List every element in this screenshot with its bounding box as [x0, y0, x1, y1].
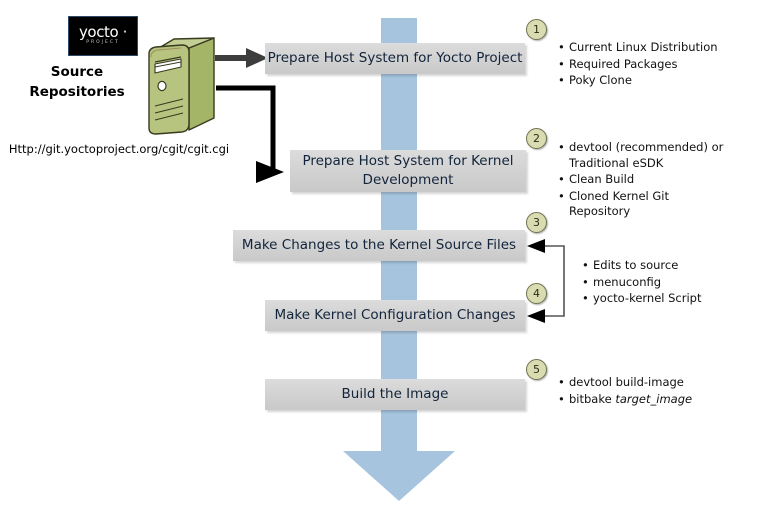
process-box-step-5[interactable]: Build the Image [265, 379, 525, 410]
list-item: Edits to source [593, 258, 760, 274]
list-item: Cloned Kernel Git Repository [569, 189, 724, 220]
list-item: devtool build-image [569, 375, 756, 391]
bullet-list-step-2: devtool (recommended) or Traditional eSD… [556, 140, 724, 221]
bullet-list-steps-3-4: Edits to source menuconfig yocto-kernel … [580, 258, 760, 308]
server-tower-icon [136, 34, 218, 144]
step-circle-4-number: 4 [533, 287, 540, 300]
diagram-canvas: yocto · PROJECT Source Repositories Http… [0, 0, 769, 517]
bullet-text-italic: target_image [615, 392, 692, 406]
process-box-step-3[interactable]: Make Changes to the Kernel Source Files [233, 230, 525, 261]
step-circle-2-number: 2 [533, 132, 540, 145]
source-repositories-label: Source Repositories [14, 62, 140, 102]
bullet-text: Poky Clone [569, 73, 632, 87]
source-repositories-label-line2: Repositories [14, 82, 140, 102]
process-box-step-5-label: Build the Image [342, 385, 449, 404]
list-item: Poky Clone [569, 73, 761, 89]
list-item: Required Packages [569, 57, 761, 73]
yocto-logo-subtext: PROJECT [86, 39, 119, 47]
source-repositories-url: Http://git.yoctoproject.org/cgit/cgit.cg… [4, 142, 234, 156]
bullet-text: yocto-kernel Script [593, 291, 702, 305]
process-box-step-1[interactable]: Prepare Host System for Yocto Project [265, 43, 525, 74]
process-box-step-3-label: Make Changes to the Kernel Source Files [242, 236, 516, 255]
step-circle-1: 1 [526, 19, 547, 40]
bullet-text: Cloned Kernel Git Repository [569, 189, 669, 219]
list-item: devtool (recommended) or Traditional eSD… [569, 140, 724, 171]
bullet-text: devtool (recommended) or Traditional eSD… [569, 140, 723, 170]
step-circle-5-number: 5 [533, 363, 540, 376]
step-circle-4: 4 [526, 283, 547, 304]
bullet-text: menuconfig [593, 275, 661, 289]
step-circle-5: 5 [526, 359, 547, 380]
list-item: Current Linux Distribution [569, 40, 761, 56]
source-repositories-label-line1: Source [14, 62, 140, 82]
yocto-logo-wordmark: yocto · [79, 25, 127, 39]
list-item: yocto-kernel Script [593, 291, 760, 307]
yocto-project-logo: yocto · PROJECT [68, 16, 138, 56]
bullet-text: Clean Build [569, 172, 634, 186]
bullet-text: devtool build-image [569, 375, 684, 389]
bullet-text: Current Linux Distribution [569, 40, 718, 54]
step-circle-3: 3 [526, 212, 547, 233]
process-box-step-4[interactable]: Make Kernel Configuration Changes [265, 300, 525, 331]
process-box-step-2[interactable]: Prepare Host System for Kernel Developme… [290, 150, 526, 192]
bullet-text: Edits to source [593, 258, 678, 272]
process-box-step-4-label: Make Kernel Configuration Changes [274, 306, 515, 325]
main-flow-arrow-head [343, 451, 455, 501]
list-item: bitbake target_image [569, 392, 756, 408]
step-circle-2: 2 [526, 128, 547, 149]
bullet-list-step-1: Current Linux Distribution Required Pack… [556, 40, 761, 90]
bullet-text: Required Packages [569, 57, 678, 71]
list-item: menuconfig [593, 275, 760, 291]
bullet-list-step-5: devtool build-image bitbake target_image [556, 375, 756, 408]
list-item: Clean Build [569, 172, 724, 188]
process-box-step-1-label: Prepare Host System for Yocto Project [268, 49, 523, 68]
step-circle-3-number: 3 [533, 216, 540, 229]
step-circle-1-number: 1 [533, 23, 540, 36]
process-box-step-2-label: Prepare Host System for Kernel Developme… [290, 152, 526, 190]
bullet-text: bitbake [569, 392, 615, 406]
